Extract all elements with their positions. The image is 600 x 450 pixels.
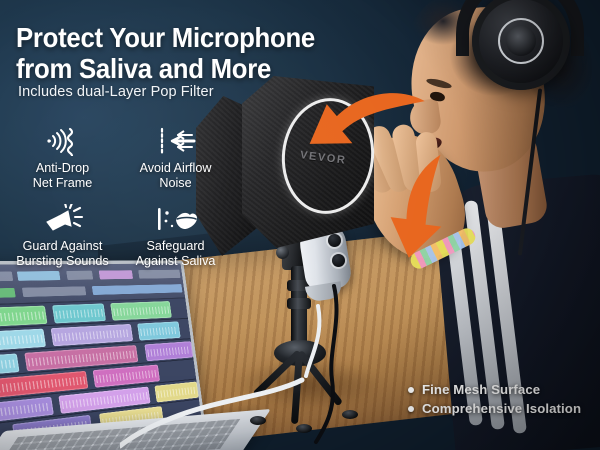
megaphone-burst-icon (41, 202, 85, 234)
lips-droplets-icon (152, 202, 200, 234)
bullet-text: Fine Mesh Surface (422, 382, 540, 397)
subtitle: Includes dual-Layer Pop Filter (18, 84, 214, 100)
airflow-arrows-icon (154, 124, 198, 156)
feature-label: Guard Against Bursting Sounds (16, 239, 108, 269)
page-title: Protect Your Microphone from Saliva and … (16, 22, 320, 85)
bullet-text: Comprehensive Isolation (422, 401, 581, 416)
feature-list: Anti-Drop Net Frame (6, 124, 232, 280)
feature-safeguard-against-saliva: Safeguard Against Saliva (119, 202, 232, 280)
benefit-bullet-list: Fine Mesh Surface Comprehensive Isolatio… (408, 382, 581, 416)
feature-anti-drop-net-frame: Anti-Drop Net Frame (6, 124, 119, 202)
text-overlay: Protect Your Microphone from Saliva and … (0, 0, 600, 450)
sound-wave-net-icon (40, 124, 86, 156)
feature-avoid-airflow-noise: Avoid Airflow Noise (119, 124, 232, 202)
bullet-dot-icon (408, 406, 414, 412)
bullet-dot-icon (408, 387, 414, 393)
feature-label: Avoid Airflow Noise (140, 161, 212, 191)
product-banner: VEVOR (0, 0, 600, 450)
feature-label: Safeguard Against Saliva (136, 239, 216, 269)
feature-guard-against-bursting-sounds: Guard Against Bursting Sounds (6, 202, 119, 280)
list-item: Comprehensive Isolation (408, 401, 581, 416)
list-item: Fine Mesh Surface (408, 382, 581, 397)
feature-label: Anti-Drop Net Frame (33, 161, 92, 191)
